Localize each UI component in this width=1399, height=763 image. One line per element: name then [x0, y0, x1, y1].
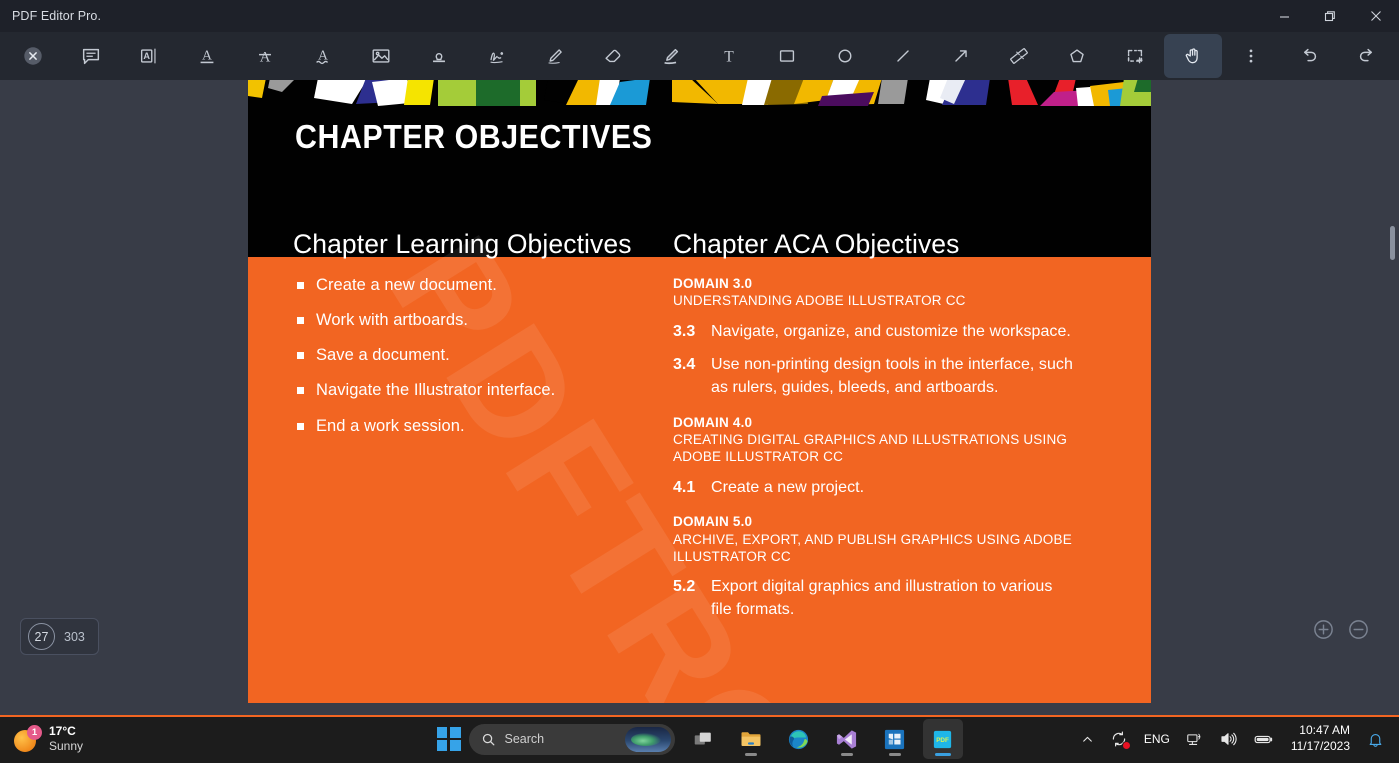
taskbar: 1 17°C Sunny Search: [0, 715, 1399, 763]
redo-icon[interactable]: [1338, 34, 1396, 78]
signature-icon[interactable]: [468, 34, 526, 78]
svg-text:A: A: [143, 51, 150, 61]
running-indicator: [889, 753, 901, 756]
minimize-button[interactable]: [1261, 0, 1307, 32]
application-window: PDF Editor Pro.: [0, 0, 1399, 763]
highlighter-icon[interactable]: [642, 34, 700, 78]
objective-number: 5.2: [673, 576, 711, 621]
svg-text:T: T: [724, 49, 734, 66]
weather-text: 17°C Sunny: [49, 724, 83, 754]
objective-text: Create a new project.: [711, 477, 1073, 500]
svg-text:PDF: PDF: [936, 736, 949, 743]
visual-studio-icon[interactable]: [827, 719, 867, 759]
weather-temperature: 17°C: [49, 724, 83, 739]
pdf-editor-icon[interactable]: PDF: [923, 719, 963, 759]
scrollbar-thumb[interactable]: [1390, 226, 1395, 260]
list-item: Work with artboards.: [293, 310, 678, 331]
volume-icon[interactable]: [1212, 719, 1244, 759]
zoom-controls: [1312, 618, 1370, 641]
objective-text: Use non-printing design tools in the int…: [711, 354, 1073, 399]
list-item: Save a document.: [293, 345, 678, 366]
polygon-icon[interactable]: [1048, 34, 1106, 78]
list-item: Navigate the Illustrator interface.: [293, 380, 678, 401]
title-bar: PDF Editor Pro.: [0, 0, 1399, 32]
line-icon[interactable]: [874, 34, 932, 78]
objective-row: 4.1 Create a new project.: [673, 477, 1073, 500]
task-view-icon[interactable]: [683, 719, 723, 759]
squiggly-underline-icon[interactable]: A: [294, 34, 352, 78]
page-indicator[interactable]: 27 303: [20, 618, 99, 655]
right-column-heading: Chapter ACA Objectives: [673, 230, 1073, 259]
domain-description: CREATING DIGITAL GRAPHICS AND ILLUSTRATI…: [673, 431, 1073, 466]
active-indicator: [935, 753, 951, 756]
zoom-in-button[interactable]: [1312, 618, 1335, 641]
network-icon[interactable]: [1179, 719, 1210, 759]
objective-number: 3.3: [673, 321, 711, 344]
eraser-icon[interactable]: [584, 34, 642, 78]
svg-text:A: A: [318, 48, 328, 63]
windows-app-icon[interactable]: [875, 719, 915, 759]
language-indicator[interactable]: ENG: [1137, 719, 1177, 759]
total-page-count: 303: [64, 630, 85, 644]
close-circle-icon[interactable]: [4, 34, 62, 78]
ruler-icon[interactable]: [990, 34, 1048, 78]
clock-date: 11/17/2023: [1291, 739, 1350, 755]
pdf-page: CHAPTER OBJECTIVES PDFTRON Chapter Learn…: [248, 80, 1151, 703]
objective-text: Export digital graphics and illustration…: [711, 576, 1073, 621]
file-explorer-icon[interactable]: [731, 719, 771, 759]
vertical-scrollbar[interactable]: [1387, 80, 1399, 715]
left-column: Chapter Learning Objectives Create a new…: [293, 230, 678, 451]
rectangle-icon[interactable]: [758, 34, 816, 78]
more-vertical-icon[interactable]: [1222, 34, 1280, 78]
domain-description: UNDERSTANDING ADOBE ILLUSTRATOR CC: [673, 292, 1073, 309]
hand-icon[interactable]: [1164, 34, 1222, 78]
left-column-heading: Chapter Learning Objectives: [293, 230, 678, 259]
list-item: End a work session.: [293, 416, 678, 437]
objective-number: 4.1: [673, 477, 711, 500]
page-title: CHAPTER OBJECTIVES: [295, 118, 652, 156]
zoom-out-button[interactable]: [1347, 618, 1370, 641]
domain-block: DOMAIN 4.0 CREATING DIGITAL GRAPHICS AND…: [673, 414, 1073, 466]
annotation-toolbar: A A A A: [0, 32, 1399, 80]
start-button-icon[interactable]: [437, 727, 461, 751]
sync-icon[interactable]: [1103, 719, 1135, 759]
svg-text:A: A: [202, 48, 212, 63]
system-tray: ENG: [1074, 715, 1399, 763]
sync-alert-dot: [1122, 741, 1131, 750]
running-indicator: [841, 753, 853, 756]
search-input[interactable]: Search: [469, 724, 675, 755]
pen-icon[interactable]: [526, 34, 584, 78]
arrow-icon[interactable]: [932, 34, 990, 78]
battery-icon[interactable]: [1246, 719, 1281, 759]
stamp-icon[interactable]: [410, 34, 468, 78]
ellipse-icon[interactable]: [816, 34, 874, 78]
undo-icon[interactable]: [1280, 34, 1338, 78]
clock-time: 10:47 AM: [1291, 723, 1350, 739]
domain-name: DOMAIN 5.0: [673, 513, 1073, 530]
search-placeholder: Search: [505, 732, 616, 746]
domain-name: DOMAIN 3.0: [673, 275, 1073, 292]
clock[interactable]: 10:47 AM 11/17/2023: [1283, 723, 1358, 754]
objective-row: 5.2 Export digital graphics and illustra…: [673, 576, 1073, 621]
comment-icon[interactable]: [62, 34, 120, 78]
image-icon[interactable]: [352, 34, 410, 78]
strikethrough-icon[interactable]: A: [236, 34, 294, 78]
document-viewer[interactable]: CHAPTER OBJECTIVES PDFTRON Chapter Learn…: [0, 80, 1399, 715]
domain-description: ARCHIVE, EXPORT, AND PUBLISH GRAPHICS US…: [673, 531, 1073, 566]
app-title: PDF Editor Pro.: [12, 9, 101, 23]
objective-text: Navigate, organize, and customize the wo…: [711, 321, 1073, 344]
text-box-icon[interactable]: A: [120, 34, 178, 78]
snapshot-icon[interactable]: [1106, 34, 1164, 78]
objective-number: 3.4: [673, 354, 711, 399]
svg-text:A: A: [260, 50, 271, 66]
weather-condition: Sunny: [49, 739, 83, 754]
domain-block: DOMAIN 5.0 ARCHIVE, EXPORT, AND PUBLISH …: [673, 513, 1073, 565]
domain-block: DOMAIN 3.0 UNDERSTANDING ADOBE ILLUSTRAT…: [673, 275, 1073, 310]
right-column: Chapter ACA Objectives DOMAIN 3.0 UNDERS…: [673, 230, 1073, 633]
show-hidden-icons-button[interactable]: [1074, 719, 1101, 759]
notifications-bell-icon[interactable]: [1360, 719, 1391, 759]
objective-row: 3.3 Navigate, organize, and customize th…: [673, 321, 1073, 344]
microsoft-edge-icon[interactable]: [779, 719, 819, 759]
restore-button[interactable]: [1307, 0, 1353, 32]
search-icon: [481, 732, 496, 747]
search-highlight-thumbnail: [625, 727, 671, 752]
weather-widget[interactable]: 1 17°C Sunny: [14, 724, 83, 754]
list-item: Create a new document.: [293, 275, 678, 296]
learning-objectives-list: Create a new document. Work with artboar…: [293, 275, 678, 437]
text-tool-icon[interactable]: T: [700, 34, 758, 78]
window-controls: [1261, 0, 1399, 32]
sun-icon: 1: [14, 726, 40, 752]
close-button[interactable]: [1353, 0, 1399, 32]
underline-icon[interactable]: A: [178, 34, 236, 78]
objective-row: 3.4 Use non-printing design tools in the…: [673, 354, 1073, 399]
domain-name: DOMAIN 4.0: [673, 414, 1073, 431]
current-page-number[interactable]: 27: [28, 623, 55, 650]
decorative-pattern: [248, 80, 1151, 108]
running-indicator: [745, 753, 757, 756]
notification-badge: 1: [27, 725, 42, 740]
